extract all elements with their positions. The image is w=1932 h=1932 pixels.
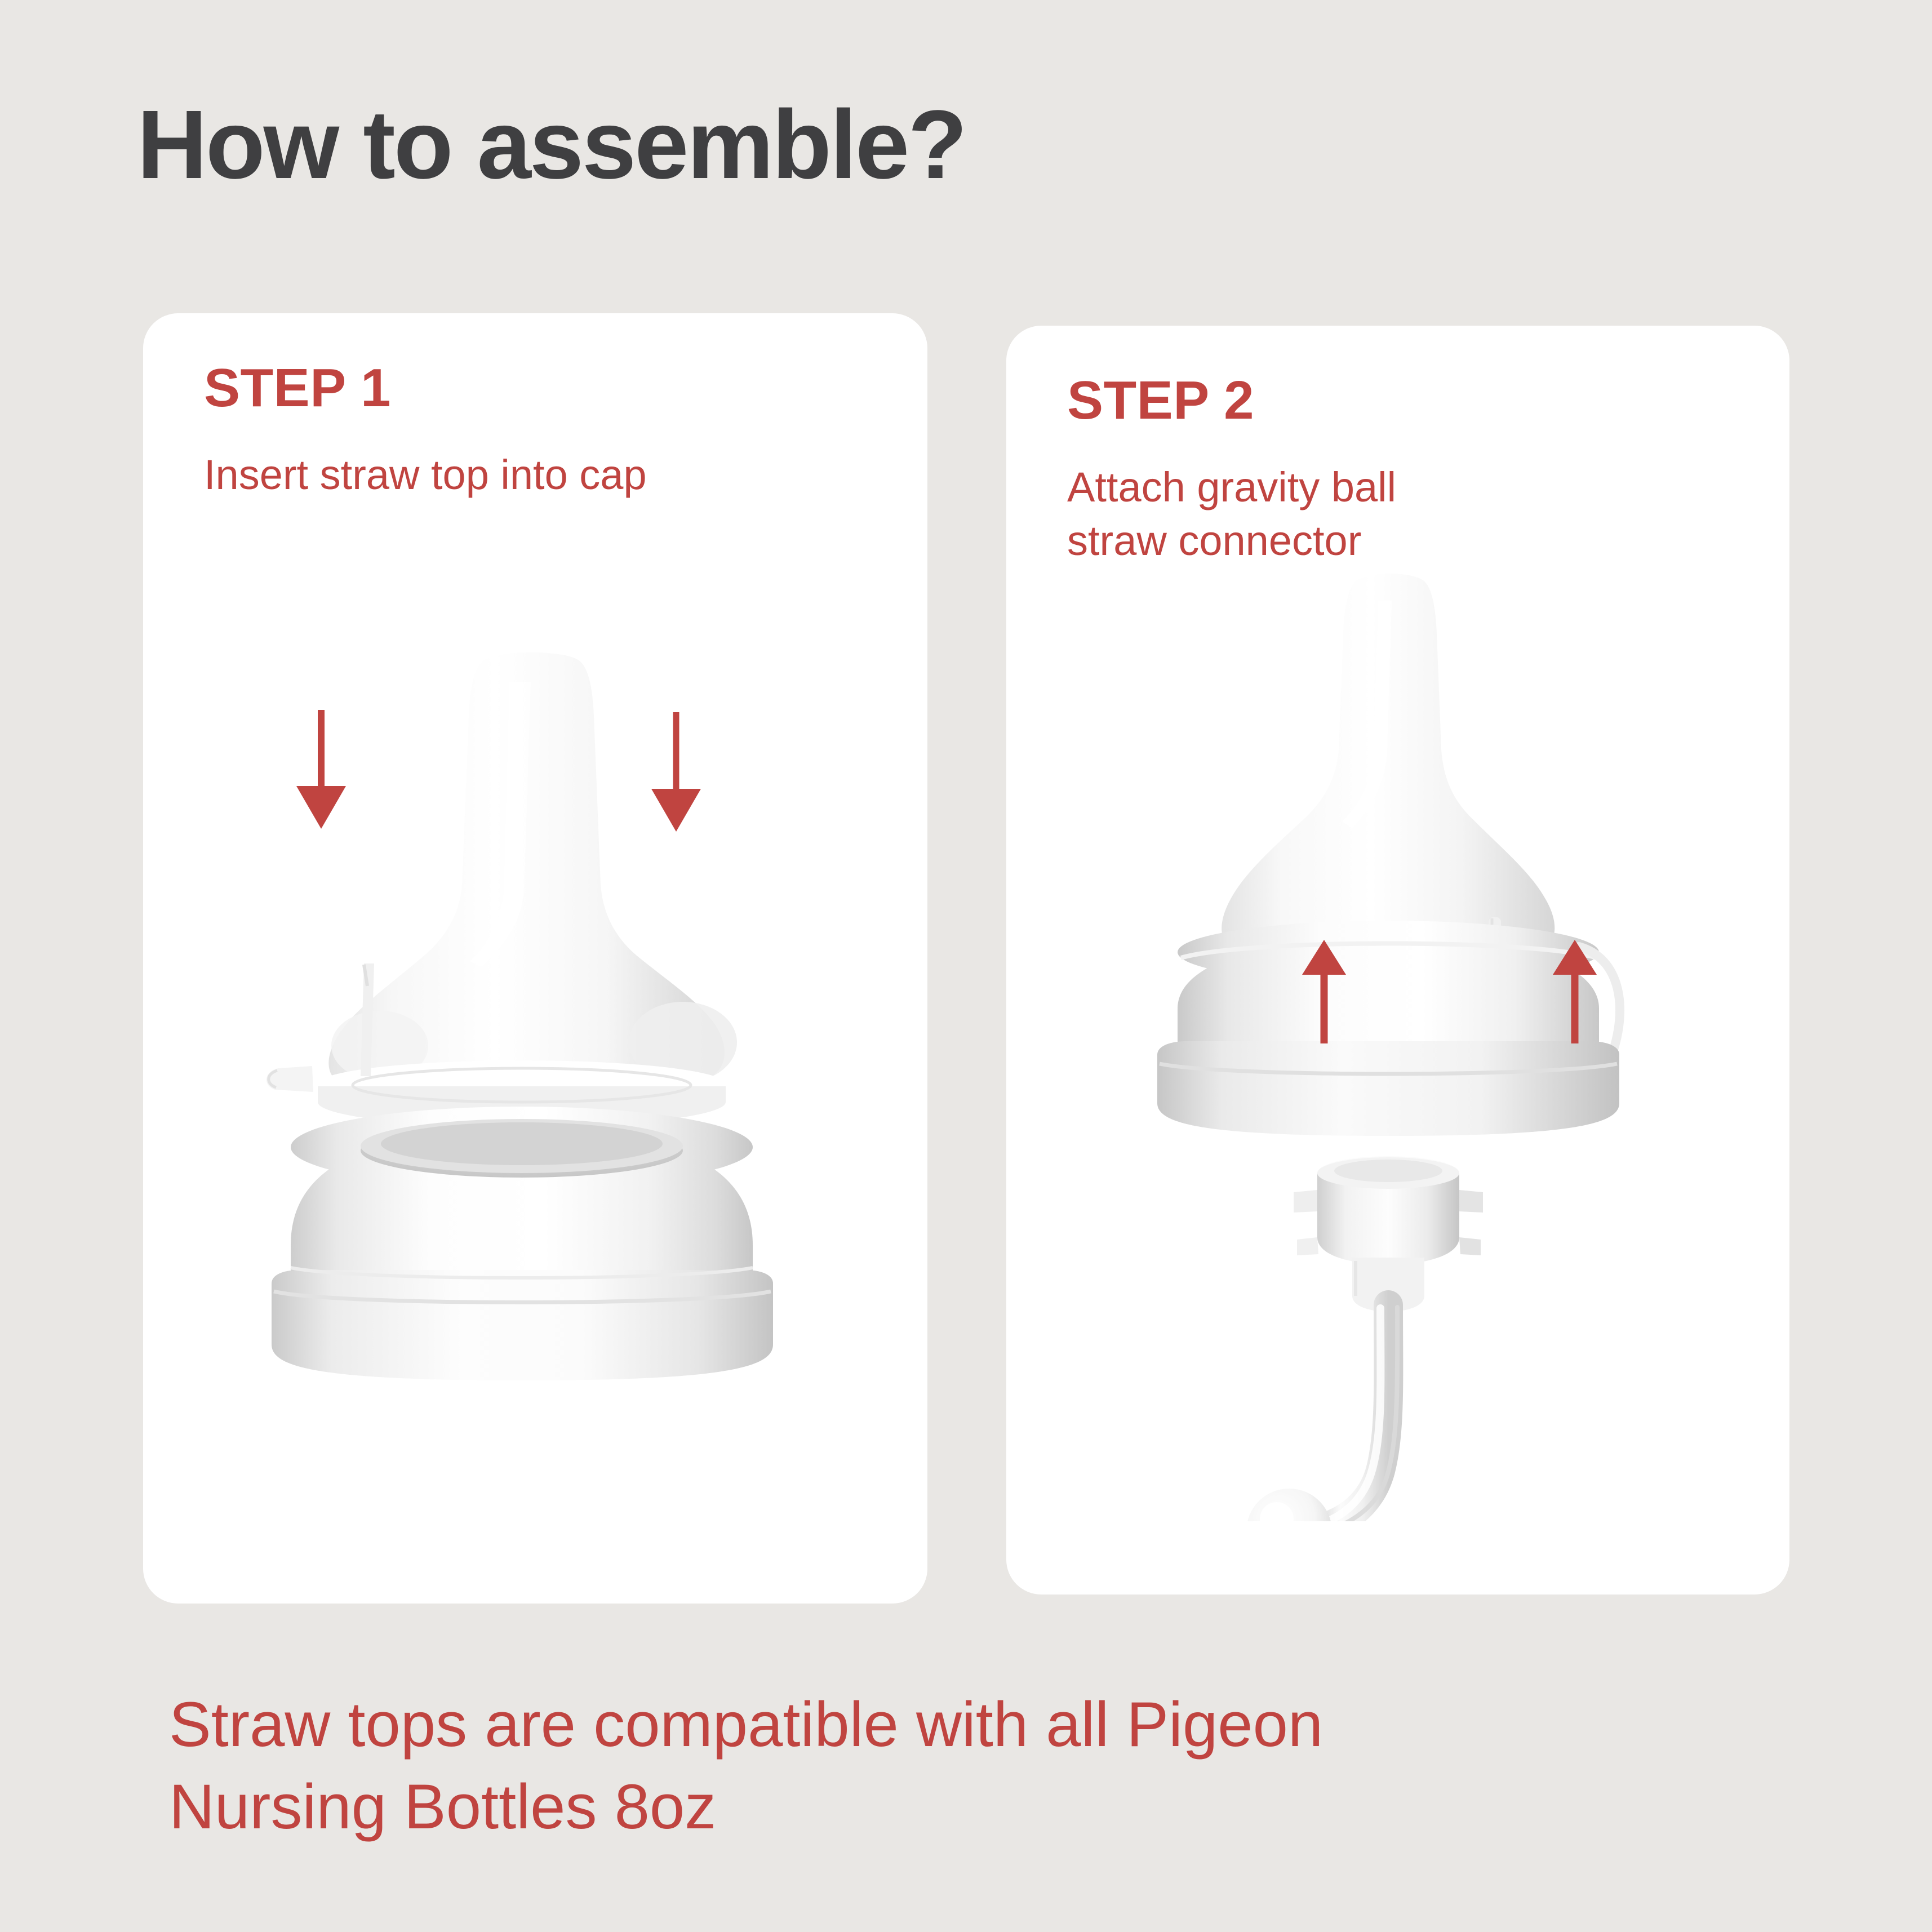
step-2-label: STEP 2 bbox=[1067, 374, 1254, 428]
step-2-illustration bbox=[1006, 563, 1789, 1521]
footer-compatibility-caption: Straw tops are compatible with all Pigeo… bbox=[169, 1684, 1747, 1847]
up-arrow-right-icon bbox=[1544, 940, 1606, 1047]
step-1-label: STEP 1 bbox=[204, 361, 391, 415]
step-1-illustration bbox=[143, 648, 927, 1397]
down-arrow-left-icon bbox=[287, 710, 355, 823]
up-arrow-left-icon bbox=[1293, 940, 1355, 1047]
gravity-ball-straw-connector bbox=[1246, 1156, 1483, 1521]
step-1-description: Insert straw top into cap bbox=[204, 448, 647, 502]
assembled-straw-top-nipple bbox=[1222, 574, 1555, 957]
down-arrow-right-icon bbox=[642, 712, 710, 825]
page-title: How to assemble? bbox=[137, 96, 966, 193]
cap-ring bbox=[272, 1107, 773, 1380]
step-2-description: Attach gravity ball straw connector bbox=[1067, 461, 1396, 567]
assembly-instructions-poster: How to assemble? STEP 1 Insert straw top… bbox=[0, 0, 1932, 1932]
